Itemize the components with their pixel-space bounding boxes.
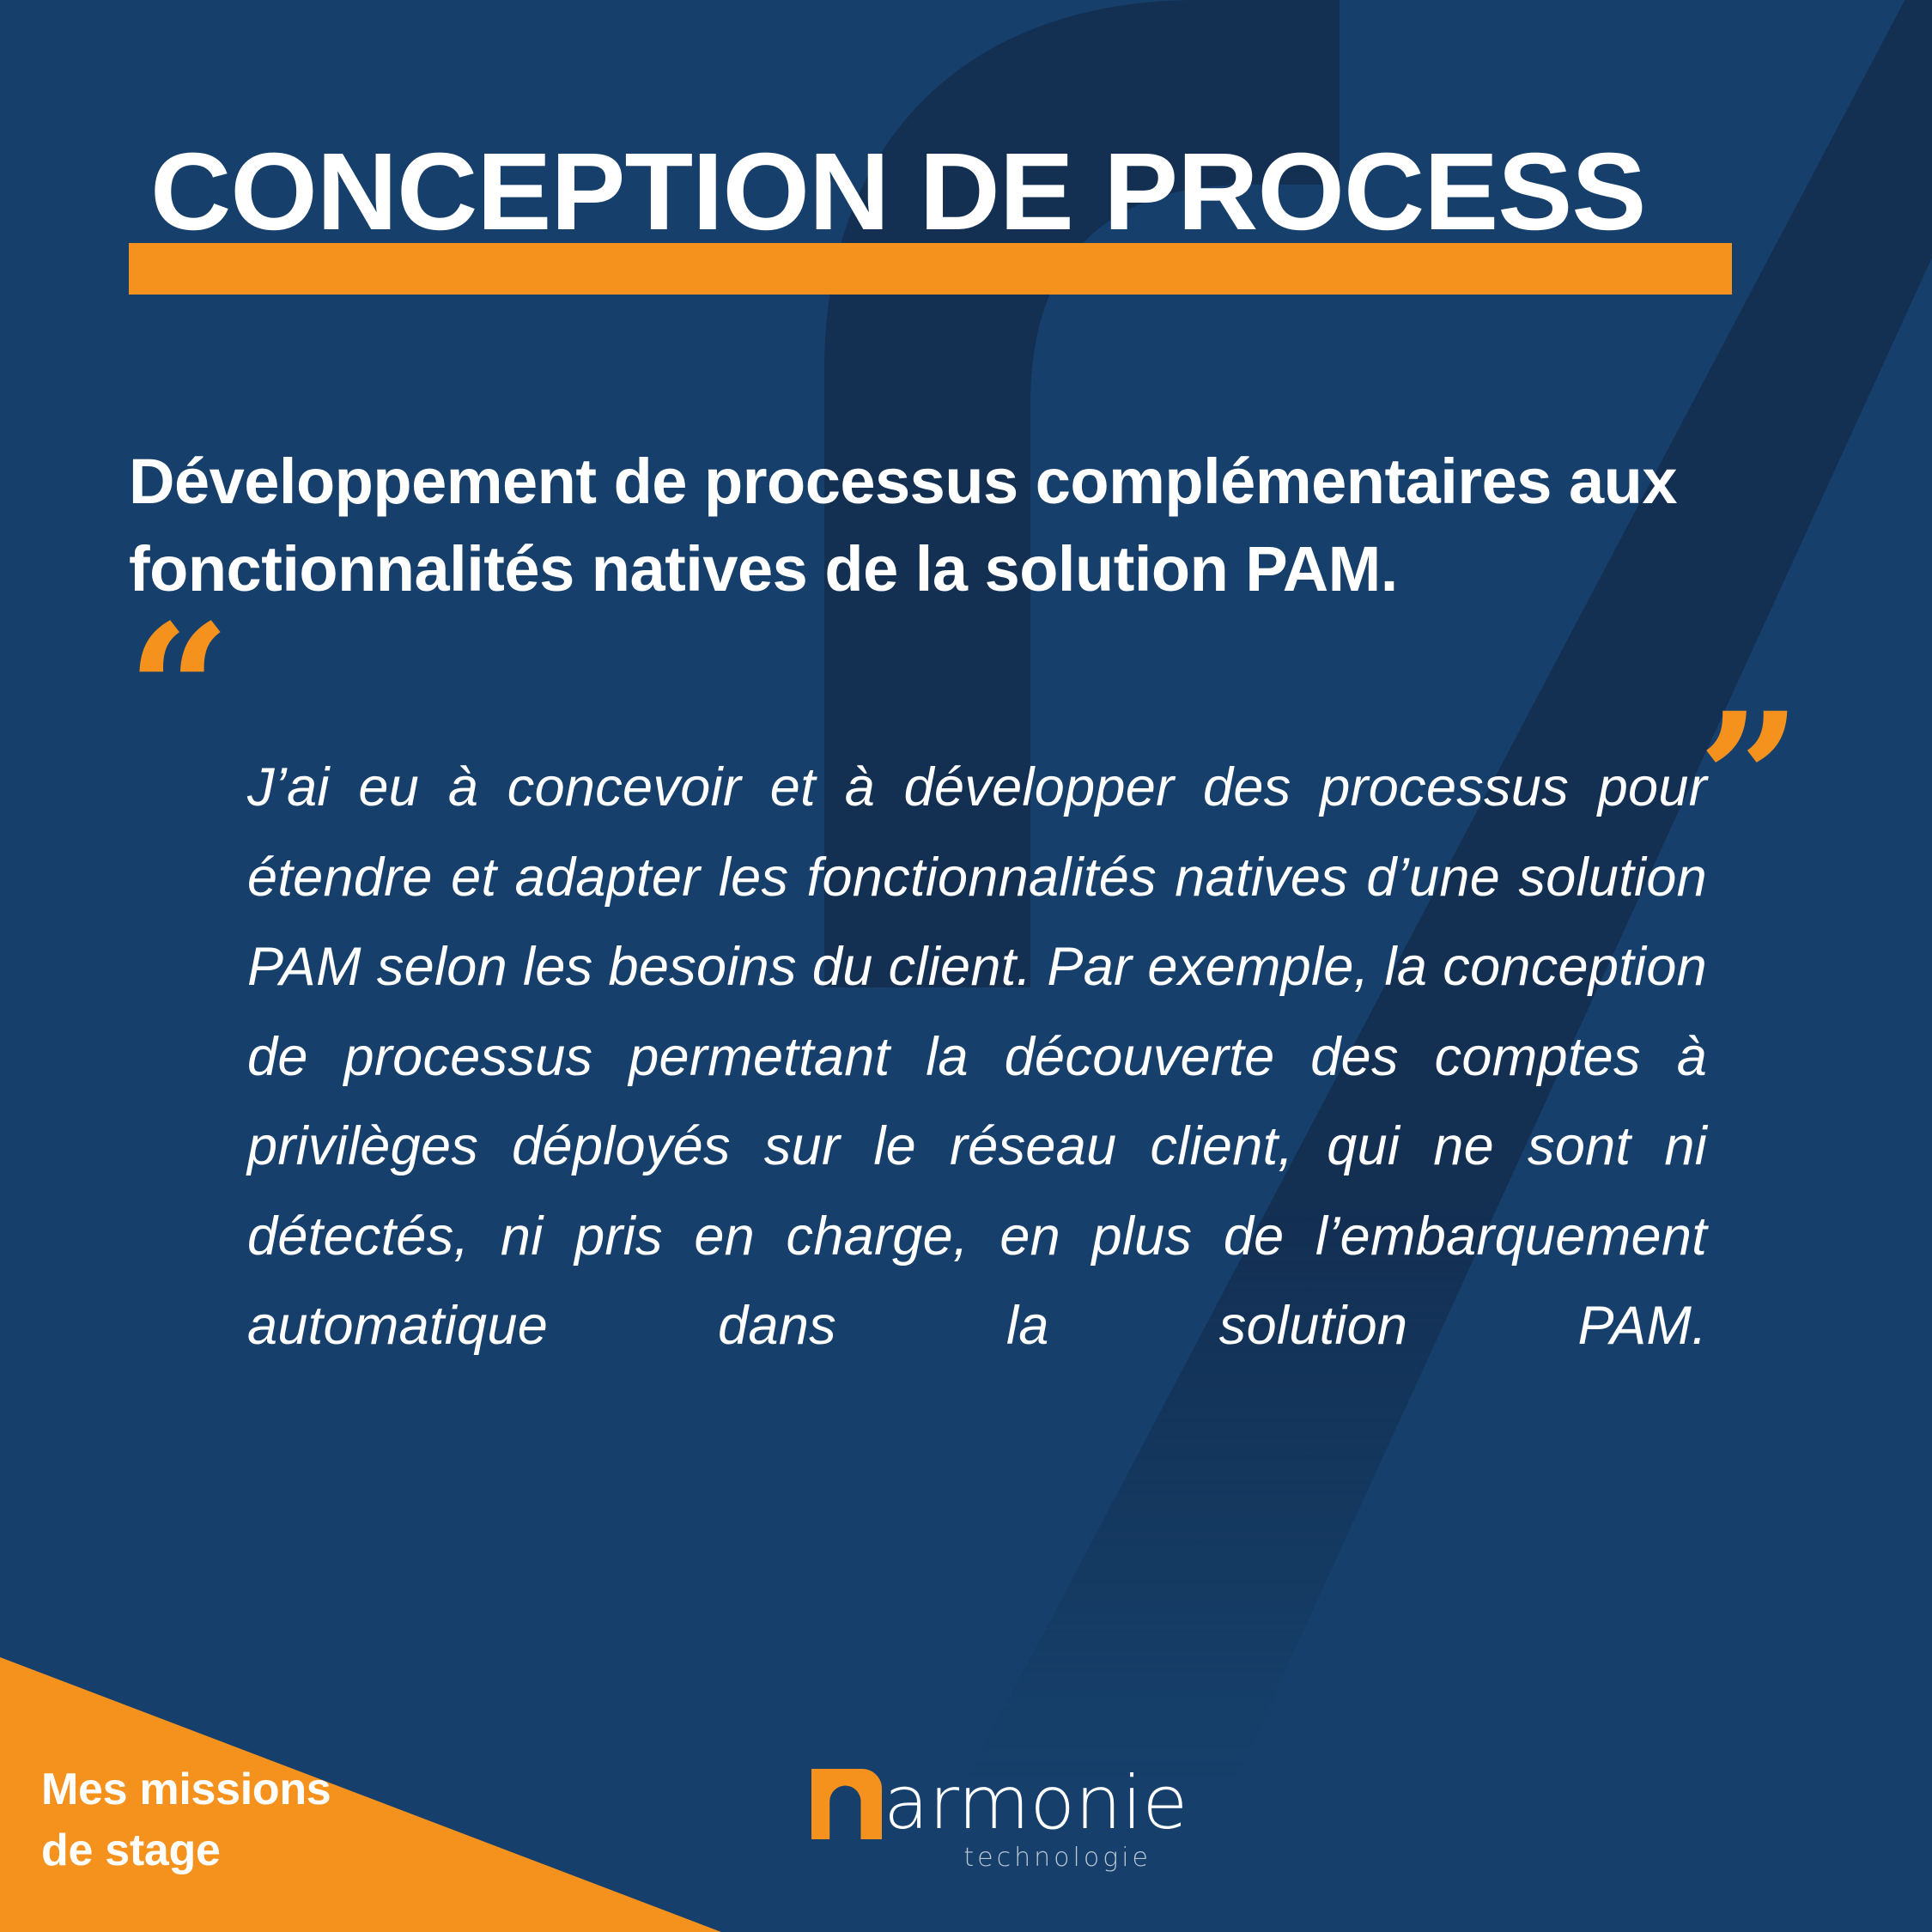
footer-label-line1: Mes missions	[41, 1759, 331, 1821]
subtitle: Développement de processus complémentair…	[129, 438, 1829, 613]
footer-label: Mes missions de stage	[41, 1759, 331, 1883]
logo-row: armonie	[811, 1769, 1155, 1839]
logo-wordmark: armonie	[884, 1769, 1188, 1839]
footer-label-line2: de stage	[41, 1820, 331, 1882]
page-title-block: CONCEPTION DE PROCESS	[129, 137, 1803, 309]
harmonie-h-mark-icon	[811, 1769, 882, 1839]
slide-canvas: CONCEPTION DE PROCESS Développement de p…	[0, 0, 1932, 1932]
quote-open-icon: “	[127, 601, 231, 781]
page-title: CONCEPTION DE PROCESS	[150, 137, 1645, 247]
quote-body-text: J’ai eu à concevoir et à développer des …	[247, 743, 1707, 1461]
logo-tagline: technologie	[811, 1843, 1155, 1873]
quote-close-icon: “	[1696, 601, 1800, 781]
brand-logo: armonie technologie	[811, 1769, 1155, 1889]
